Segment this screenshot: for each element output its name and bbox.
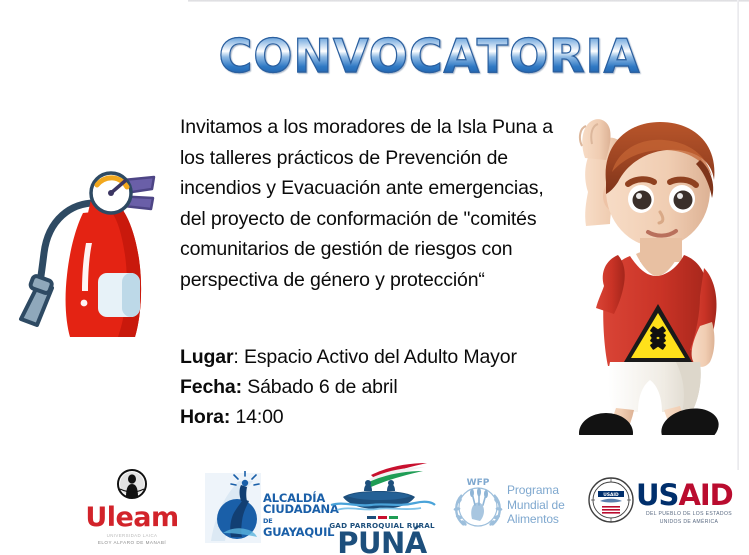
- uleam-subtitle-line2: ELOY ALFARO DE MANABÍ: [76, 540, 188, 545]
- logo-alcaldia-guayaquil: ALCALDÍA CIUDADANA DE GUAYAQUIL: [205, 471, 330, 547]
- puna-wordmark: PUNÁ: [323, 530, 441, 555]
- usaid-us-text: US: [636, 478, 678, 512]
- puna-tricolor-bars: [323, 516, 441, 519]
- svg-text:USAID: USAID: [603, 492, 619, 498]
- usaid-seal-icon: USAID: [588, 475, 634, 525]
- time-value: 14:00: [230, 406, 283, 428]
- place-value: Espacio Activo del Adulto Mayor: [244, 346, 517, 368]
- place-label: Lugar: [180, 346, 233, 368]
- fire-extinguisher-icon: [12, 155, 182, 345]
- wfp-line-3: Alimentos: [507, 512, 565, 527]
- logo-gad-puna: GAD PARROQUIAL RURAL PUNÁ Juntos hacemos…: [323, 463, 441, 551]
- wfp-acronym: WFP: [467, 478, 490, 488]
- uleam-wordmark: Uleam: [76, 504, 188, 531]
- partner-logo-strip: Uleam UNIVERSIDAD LAICA ELOY ALFARO DE M…: [0, 461, 749, 553]
- uleam-emblem-icon: [76, 469, 188, 499]
- wfp-line-1: Programa: [507, 483, 565, 498]
- detail-place: Lugar: Espacio Activo del Adulto Mayor: [180, 342, 580, 372]
- poster-canvas: CONVOCATORIA Invitamos a los moradores d…: [0, 0, 749, 555]
- logo-usaid: USAID USAID DEL PUEBLO DE LOS ESTADOS UN…: [588, 475, 740, 537]
- title-container: CONVOCATORIA: [0, 32, 749, 80]
- usaid-wordmark: USAID: [636, 481, 733, 510]
- date-label: Fecha:: [180, 376, 242, 398]
- page-title: CONVOCATORIA: [219, 32, 641, 80]
- detail-time: Hora: 14:00: [180, 402, 580, 432]
- usaid-aid-text: AID: [678, 478, 732, 512]
- uleam-subtitle-line1: UNIVERSIDAD LAICA: [76, 533, 188, 538]
- invitation-paragraph: Invitamos a los moradores de la Isla Pun…: [180, 112, 572, 295]
- event-details: Lugar: Espacio Activo del Adulto Mayor F…: [180, 342, 580, 432]
- logo-uleam: Uleam UNIVERSIDAD LAICA ELOY ALFARO DE M…: [76, 469, 188, 545]
- place-separator: :: [233, 346, 244, 368]
- logo-wfp: WFP: [452, 475, 582, 537]
- date-value: Sábado 6 de abril: [242, 376, 398, 398]
- slide-top-edge: [188, 0, 749, 2]
- time-label: Hora:: [180, 406, 230, 428]
- cartoon-boy-figure: [552, 100, 742, 435]
- wfp-line-2: Mundial de: [507, 498, 565, 513]
- usaid-tagline: DEL PUEBLO DE LOS ESTADOS UNIDOS DE AMÉR…: [637, 511, 741, 526]
- puna-boat-icon: [323, 463, 441, 511]
- wfp-wordmark: Programa Mundial de Alimentos: [507, 483, 565, 527]
- wfp-emblem-icon: WFP: [452, 475, 504, 531]
- detail-date: Fecha: Sábado 6 de abril: [180, 372, 580, 402]
